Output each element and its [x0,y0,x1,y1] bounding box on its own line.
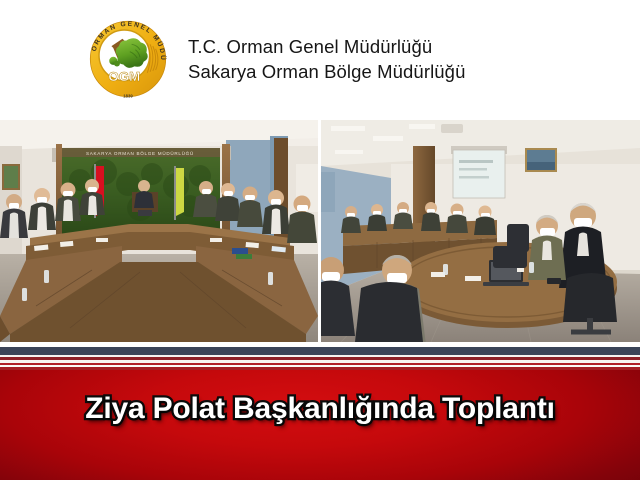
org-title-primary: T.C. Orman Genel Müdürlüğü [188,34,465,59]
headline-title: Ziya Polat Başkanlığında Toplantı [0,392,640,426]
ogm-forestry-emblem-icon: ORMAN GENEL MÜDÜRLÜĞÜ OGM [82,13,174,105]
svg-text:OGM: OGM [108,69,140,84]
svg-text:SAKARYA ORMAN BÖLGE MÜDÜRLÜĞÜ: SAKARYA ORMAN BÖLGE MÜDÜRLÜĞÜ [86,150,194,156]
headline-banner: Ziya Polat Başkanlığında Toplantı [0,370,640,480]
stripe-navy [0,347,640,355]
news-banner-page: ORMAN GENEL MÜDÜRLÜĞÜ OGM [0,0,640,480]
org-title-secondary: Sakarya Orman Bölge Müdürlüğü [188,59,465,84]
photo-strip: SAKARYA ORMAN BÖLGE MÜDÜRLÜĞÜ [0,120,640,342]
meeting-room-side-view-photo [321,120,640,342]
decorative-stripe-band [0,342,640,370]
organization-titles: T.C. Orman Genel Müdürlüğü Sakarya Orman… [188,34,465,84]
meeting-room-wide-view-photo: SAKARYA ORMAN BÖLGE MÜDÜRLÜĞÜ [0,120,318,342]
svg-text:1839: 1839 [123,94,133,99]
page-header: ORMAN GENEL MÜDÜRLÜĞÜ OGM [0,0,640,118]
